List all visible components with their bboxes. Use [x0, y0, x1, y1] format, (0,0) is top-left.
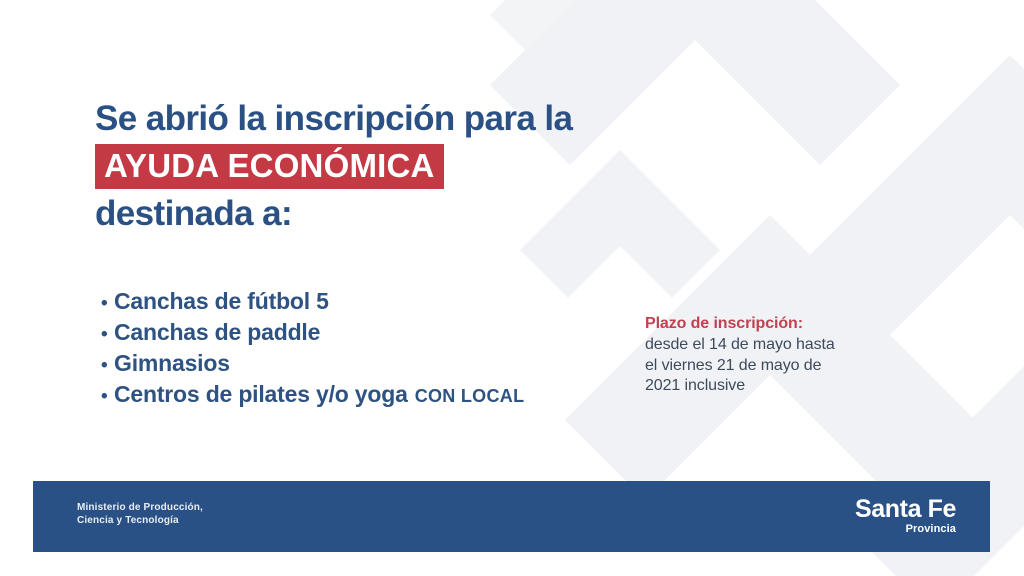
list-item: • Centros de pilates y/o yoga CON LOCAL: [101, 380, 524, 411]
deadline-line-1: desde el 14 de mayo hasta: [645, 335, 905, 356]
headline-highlight-badge: AYUDA ECONÓMICA: [95, 144, 444, 189]
list-item-emphasis: CON LOCAL: [415, 382, 525, 411]
deadline-title: Plazo de inscripción:: [645, 313, 905, 334]
headline-line-3: destinada a:: [95, 193, 572, 234]
ministry-label: Ministerio de Producción, Ciencia y Tecn…: [77, 501, 203, 527]
brand-subtitle: Provincia: [855, 522, 956, 536]
list-item-label: Canchas de fútbol 5: [114, 287, 329, 316]
list-item-label: Gimnasios: [114, 349, 230, 378]
headline-line-1: Se abrió la inscripción para la: [95, 98, 572, 139]
list-item-label: Centros de pilates y/o yoga: [114, 380, 408, 409]
headline-block: Se abrió la inscripción para la AYUDA EC…: [95, 98, 572, 234]
list-item-label: Canchas de paddle: [114, 318, 320, 347]
bullet-dot-icon: •: [101, 320, 114, 349]
deadline-line-3: 2021 inclusive: [645, 376, 905, 397]
deadline-line-2: el viernes 21 de mayo de: [645, 356, 905, 377]
deadline-block: Plazo de inscripción: desde el 14 de may…: [645, 313, 905, 397]
eligibility-list: • Canchas de fútbol 5 • Canchas de paddl…: [101, 287, 524, 411]
slide-canvas: Se abrió la inscripción para la AYUDA EC…: [0, 0, 1024, 576]
ministry-line-1: Ministerio de Producción,: [77, 501, 203, 514]
footer-bar: Ministerio de Producción, Ciencia y Tecn…: [33, 481, 990, 552]
bullet-dot-icon: •: [101, 382, 114, 411]
list-item: • Canchas de fútbol 5: [101, 287, 524, 318]
ministry-line-2: Ciencia y Tecnología: [77, 514, 203, 527]
list-item: • Gimnasios: [101, 349, 524, 380]
brand-name: Santa Fe: [855, 496, 956, 523]
bullet-dot-icon: •: [101, 289, 114, 318]
santa-fe-logo: Santa Fe Provincia: [855, 496, 956, 536]
headline-highlight-wrap: AYUDA ECONÓMICA: [95, 144, 572, 189]
list-item: • Canchas de paddle: [101, 318, 524, 349]
bullet-dot-icon: •: [101, 351, 114, 380]
